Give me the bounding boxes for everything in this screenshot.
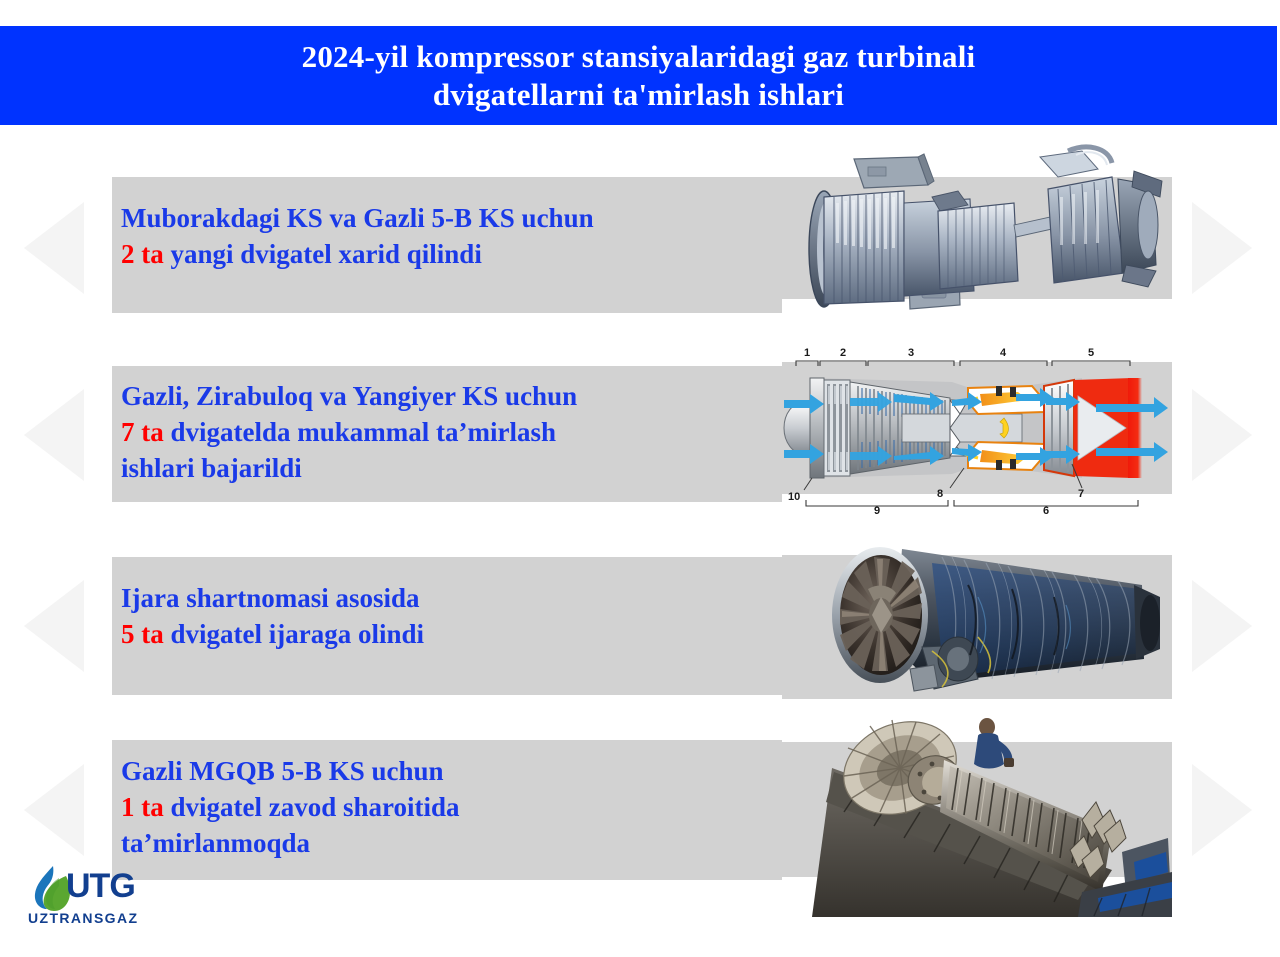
row-1-right-arrow-icon[interactable] (1192, 202, 1252, 294)
diagram-label-1: 1 (804, 347, 810, 359)
diagram-label-8: 8 (937, 488, 943, 500)
row-2-line-1: Gazli, Zirabuloq va Yangiyer KS uchun (121, 378, 577, 414)
page-title: 2024-yil kompressor stansiyalaridagi gaz… (242, 38, 1036, 114)
row-3-right-arrow-icon[interactable] (1192, 580, 1252, 672)
row-3-left-arrow-icon[interactable] (24, 580, 84, 672)
row-1-line-1: Muborakdagi KS va Gazli 5-B KS uchun (121, 200, 594, 236)
row-2-text: Gazli, Zirabuloq va Yangiyer KS uchun 7 … (121, 378, 577, 486)
company-logo: UTG UZTRANSGAZ (26, 866, 166, 938)
diagram-label-2: 2 (840, 347, 846, 359)
row-1-image (782, 141, 1172, 327)
row-4-count: 1 ta (121, 792, 171, 822)
row-3-line-2-rest: dvigatel ijaraga olindi (171, 619, 425, 649)
logo-wordmark: UTG (66, 867, 135, 905)
row-4-image (782, 702, 1172, 917)
row-3-text: Ijara shartnomasi asosida 5 ta dvigatel … (121, 580, 424, 652)
row-1-line-2: 2 ta yangi dvigatel xarid qilindi (121, 236, 594, 272)
diagram-label-10: 10 (788, 491, 800, 503)
row-4-right-arrow-icon[interactable] (1192, 764, 1252, 856)
row-2-line-2-rest: dvigatelda mukammal ta’mirlash (171, 417, 557, 447)
row-4-line-2: 1 ta dvigatel zavod sharoitida (121, 789, 460, 825)
title-line-2: dvigatellarni ta'mirlash ishlari (302, 76, 976, 114)
row-4-text: Gazli MGQB 5-B KS uchun 1 ta dvigatel za… (121, 753, 460, 861)
diagram-label-4: 4 (1000, 347, 1007, 359)
title-banner: 2024-yil kompressor stansiyalaridagi gaz… (0, 26, 1277, 125)
row-2-image: 1 2 3 4 5 (782, 342, 1172, 514)
row-3-line-2: 5 ta dvigatel ijaraga olindi (121, 616, 424, 652)
row-4-line-2-rest: dvigatel zavod sharoitida (171, 792, 460, 822)
row-3-line-1: Ijara shartnomasi asosida (121, 580, 424, 616)
row-1-text: Muborakdagi KS va Gazli 5-B KS uchun 2 t… (121, 200, 594, 272)
diagram-label-6: 6 (1043, 505, 1049, 514)
row-1-left-arrow-icon[interactable] (24, 202, 84, 294)
row-2-line-3: ishlari bajarildi (121, 450, 577, 486)
diagram-label-5: 5 (1088, 347, 1094, 359)
diagram-label-9: 9 (874, 505, 880, 514)
row-2-left-arrow-icon[interactable] (24, 389, 84, 481)
title-line-1: 2024-yil kompressor stansiyalaridagi gaz… (302, 38, 976, 76)
row-3-count: 5 ta (121, 619, 171, 649)
row-4-line-3: ta’mirlanmoqda (121, 825, 460, 861)
row-2-right-arrow-icon[interactable] (1192, 389, 1252, 481)
slide-root: 2024-yil kompressor stansiyalaridagi gaz… (0, 0, 1280, 957)
row-3-image (782, 527, 1172, 699)
diagram-label-3: 3 (908, 347, 914, 359)
row-2-line-2: 7 ta dvigatelda mukammal ta’mirlash (121, 414, 577, 450)
row-2-count: 7 ta (121, 417, 171, 447)
diagram-label-7: 7 (1078, 488, 1084, 500)
logo-subtitle: UZTRANSGAZ (28, 910, 138, 926)
row-1-count: 2 ta (121, 239, 171, 269)
row-1-line-2-rest: yangi dvigatel xarid qilindi (171, 239, 482, 269)
row-4-left-arrow-icon[interactable] (24, 764, 84, 856)
row-4-line-1: Gazli MGQB 5-B KS uchun (121, 753, 460, 789)
